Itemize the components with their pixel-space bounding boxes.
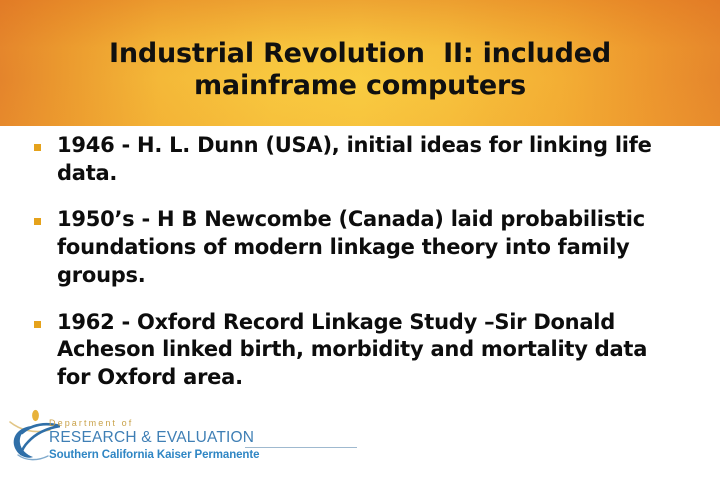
logo-text-block: Department of RESEARCH & EVALUATION Sout… [49,418,367,463]
logo-main-line: RESEARCH & EVALUATION [49,429,367,447]
square-bullet-icon [34,144,41,151]
bullet-text: 1946 - H. L. Dunn (USA), initial ideas f… [57,132,657,187]
bullet-text: 1950’s - H B Newcombe (Canada) laid prob… [57,206,657,289]
title-banner: Industrial Revolution II: included mainf… [0,0,720,126]
logo-divider [245,447,357,448]
list-item: 1962 - Oxford Record Linkage Study –Sir … [0,309,720,392]
bullet-list: 1946 - H. L. Dunn (USA), initial ideas f… [0,132,720,422]
footer-logo: Department of RESEARCH & EVALUATION Sout… [8,404,368,476]
logo-department-line: Department of [49,418,367,429]
slide-title: Industrial Revolution II: included mainf… [40,38,680,102]
bullet-text: 1962 - Oxford Record Linkage Study –Sir … [57,309,657,392]
square-bullet-icon [34,321,41,328]
list-item: 1950’s - H B Newcombe (Canada) laid prob… [0,206,720,289]
square-bullet-icon [34,218,41,225]
logo-sub-line: Southern California Kaiser Permanente [49,448,367,463]
list-item: 1946 - H. L. Dunn (USA), initial ideas f… [0,132,720,187]
presentation-slide: Industrial Revolution II: included mainf… [0,0,720,479]
